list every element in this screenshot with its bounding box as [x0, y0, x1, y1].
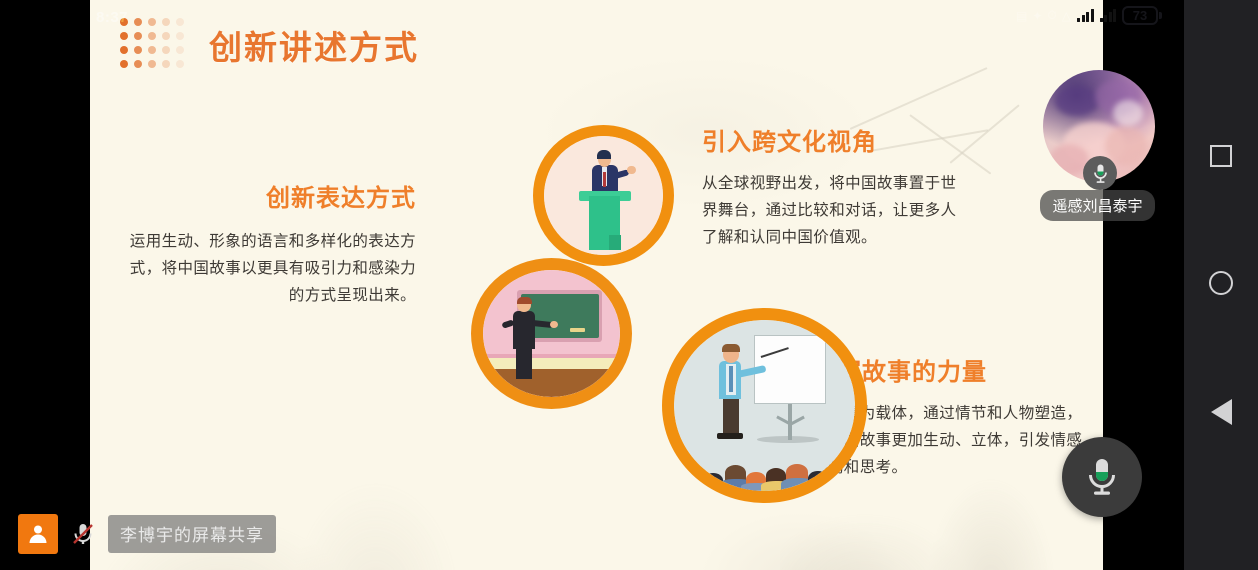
muted-mic-icon — [70, 521, 96, 547]
battery-nub-icon — [1159, 12, 1162, 19]
android-nav-bar — [1184, 0, 1258, 570]
page-title: 创新讲述方式 — [209, 21, 419, 69]
microphone-button[interactable] — [1062, 437, 1142, 517]
presenter-avatar-icon — [18, 514, 58, 554]
teacher-body — [513, 311, 535, 349]
recents-button[interactable] — [1210, 145, 1232, 167]
slide-title-bar: 创新讲述方式 — [120, 18, 419, 71]
participant-tile[interactable]: 遥感刘昌泰宇 — [1043, 70, 1155, 221]
speaker-hand — [627, 166, 635, 174]
presenter-tie — [729, 366, 734, 392]
battery-indicator: 73 — [1122, 6, 1158, 25]
teacher-legs — [516, 346, 532, 379]
phone-screen: 创新讲述方式 创新表达方式 运用生动、形象的语言和多样化的表达方式，将中国故事以… — [0, 0, 1258, 570]
shared-screen-slide: 创新讲述方式 创新表达方式 运用生动、形象的语言和多样化的表达方式，将中国故事以… — [90, 0, 1103, 570]
screen-share-bar[interactable]: 李博宇的屏幕共享 — [18, 514, 276, 554]
back-button[interactable] — [1211, 399, 1232, 425]
presenter-hair — [722, 344, 740, 353]
podium-scene — [544, 136, 663, 255]
text-block-left: 创新表达方式 运用生动、形象的语言和多样化的表达方式，将中国故事以更具有吸引力和… — [116, 178, 416, 309]
speaker-hair — [597, 150, 611, 158]
floor-trim — [483, 358, 620, 369]
presentation-scene — [674, 320, 855, 491]
audience-group — [674, 433, 855, 491]
speaker-tie — [603, 172, 607, 187]
classroom-floor — [483, 369, 620, 397]
text-block-top-right: 引入跨文化视角 从全球视野出发，将中国故事置于世界舞台，通过比较和对话，让更多人… — [702, 122, 972, 251]
chalk-tray — [570, 328, 585, 332]
classroom-scene — [483, 270, 620, 397]
screen-share-label: 李博宇的屏幕共享 — [108, 515, 276, 553]
participant-mic-icon[interactable] — [1083, 156, 1117, 190]
teacher-hair — [517, 297, 532, 305]
microphone-icon — [1085, 456, 1119, 498]
body-cross-cultural: 从全球视野出发，将中国故事置于世界舞台，通过比较和对话，让更多人了解和认同中国价… — [702, 170, 972, 251]
person-icon — [26, 522, 50, 546]
speaker-at-podium-illustration — [533, 125, 674, 266]
podium-shadow — [609, 235, 621, 250]
presenter-with-audience-illustration — [662, 308, 867, 503]
teacher-at-chalkboard-illustration — [471, 258, 632, 409]
heading-cross-cultural: 引入跨文化视角 — [702, 122, 972, 157]
heading-innovative-expression: 创新表达方式 — [116, 178, 416, 213]
presenter-legs — [723, 397, 739, 436]
body-innovative-expression: 运用生动、形象的语言和多样化的表达方式，将中国故事以更具有吸引力和感染力的方式呈… — [116, 228, 416, 309]
dot-grid-decoration-icon — [120, 18, 187, 71]
home-button[interactable] — [1209, 271, 1233, 295]
participant-name: 遥感刘昌泰宇 — [1040, 190, 1155, 221]
